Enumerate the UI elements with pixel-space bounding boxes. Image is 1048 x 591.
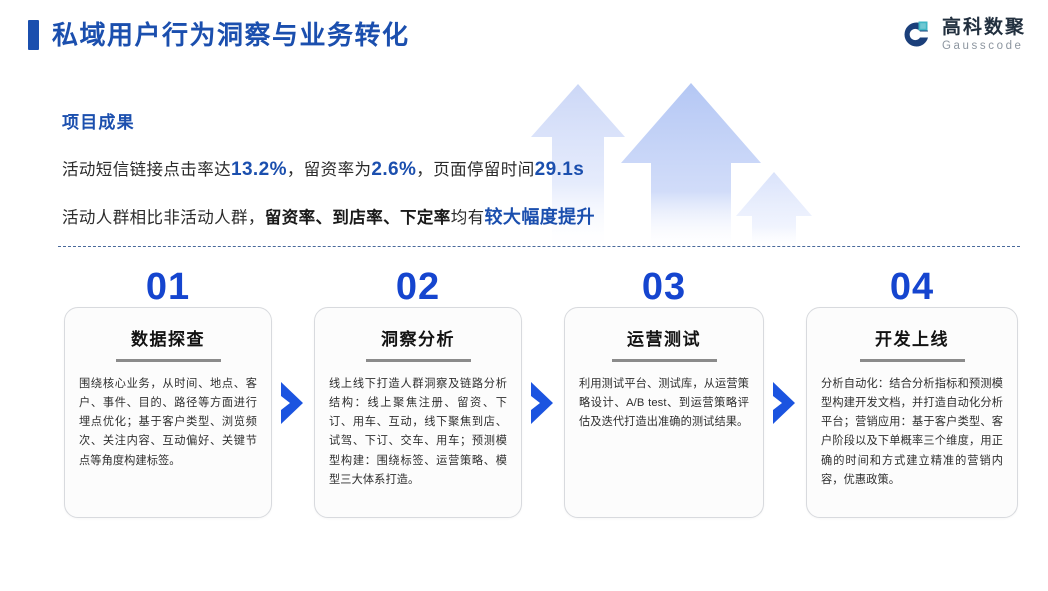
page-title: 私域用户行为洞察与业务转化: [52, 22, 410, 48]
step-03-body: 利用测试平台、测试库，从运营策略设计、A/B test、到运营策略评估及迭代打造…: [579, 375, 749, 433]
step-02-body: 线上线下打造人群洞察及链路分析结构：线上聚焦注册、留资、下订、用车、互动，线下聚…: [329, 375, 507, 491]
step-03-rule: [612, 359, 717, 362]
step-01-body: 围绕核心业务，从时间、地点、客户、事件、目的、路径等方面进行埋点优化；基于客户类…: [79, 375, 257, 471]
step-03-title: 运营测试: [579, 331, 749, 348]
metric-lead-rate: 2.6%: [371, 159, 416, 180]
logo-name-cn: 高科数聚: [942, 18, 1026, 37]
brand-logo: 高科数聚 Gausscode: [899, 18, 1026, 53]
results-line1-text1: 活动短信链接点击率达: [62, 161, 231, 179]
step-02-title: 洞察分析: [329, 331, 507, 348]
chevron-right-icon-3: [769, 380, 801, 431]
metric-dwell-time: 29.1s: [535, 159, 585, 180]
results-line2-bold1: 留资率、到店率、下定率: [265, 209, 451, 227]
logo-text: 高科数聚 Gausscode: [942, 18, 1026, 53]
results-line2-text2: 均有: [451, 209, 485, 227]
step-01-title: 数据探查: [79, 331, 257, 348]
results-heading: 项目成果: [62, 108, 762, 133]
section-divider: [58, 246, 1020, 247]
results-line-2: 活动人群相比非活动人群，留资率、到店率、下定率均有较大幅度提升: [62, 204, 762, 232]
results-line-1: 活动短信链接点击率达13.2%，留资率为2.6%，页面停留时间29.1s: [62, 155, 762, 184]
step-03-number: 03: [564, 268, 764, 306]
gausscode-circle-logo-icon: [899, 18, 933, 52]
step-04-rule: [860, 359, 965, 362]
title-accent-bar: [28, 20, 39, 50]
results-line2-bold2: 较大幅度提升: [485, 207, 595, 227]
results-line2-text1: 活动人群相比非活动人群，: [62, 209, 265, 227]
step-04-card[interactable]: 开发上线 分析自动化：结合分析指标和预测模型构建开发文档，并打造自动化分析平台；…: [806, 307, 1018, 518]
title-wrap: 私域用户行为洞察与业务转化: [28, 20, 410, 50]
chevron-right-icon-1: [277, 380, 309, 431]
project-results: 项目成果 活动短信链接点击率达13.2%，留资率为2.6%，页面停留时间29.1…: [62, 108, 762, 232]
logo-name-en: Gausscode: [942, 41, 1026, 53]
results-line1-text2: ，留资率为: [287, 161, 372, 179]
step-01-card[interactable]: 数据探查 围绕核心业务，从时间、地点、客户、事件、目的、路径等方面进行埋点优化；…: [64, 307, 272, 518]
chevron-right-icon-2: [527, 380, 559, 431]
step-01-rule: [116, 359, 221, 362]
step-04-number: 04: [806, 268, 1018, 306]
step-02-card[interactable]: 洞察分析 线上线下打造人群洞察及链路分析结构：线上聚焦注册、留资、下订、用车、互…: [314, 307, 522, 518]
metric-click-rate: 13.2%: [231, 159, 287, 180]
step-02-rule: [366, 359, 471, 362]
step-03-card[interactable]: 运营测试 利用测试平台、测试库，从运营策略设计、A/B test、到运营策略评估…: [564, 307, 764, 518]
step-04-title: 开发上线: [821, 331, 1003, 348]
process-steps: 01 数据探查 围绕核心业务，从时间、地点、客户、事件、目的、路径等方面进行埋点…: [0, 268, 1048, 528]
step-01-number: 01: [64, 268, 272, 306]
step-04-body: 分析自动化：结合分析指标和预测模型构建开发文档，并打造自动化分析平台；营销应用：…: [821, 375, 1003, 491]
step-02-number: 02: [314, 268, 522, 306]
results-line1-text3: ，页面停留时间: [416, 161, 534, 179]
page-header: 私域用户行为洞察与业务转化 高科数聚 Gausscode: [0, 0, 1048, 78]
